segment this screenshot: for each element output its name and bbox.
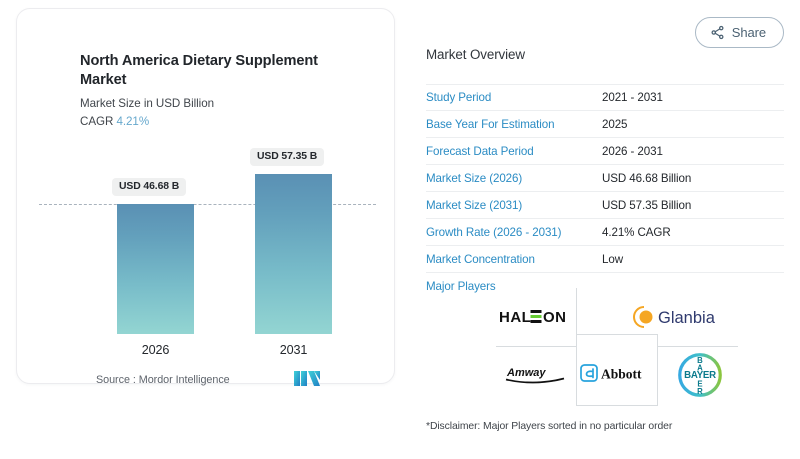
mordor-intelligence-logo bbox=[294, 371, 320, 386]
cagr-label: CAGR bbox=[80, 115, 113, 128]
logo-abbott[interactable]: Abbott bbox=[578, 350, 656, 396]
svg-text:ON: ON bbox=[543, 309, 567, 326]
spec-label: Forecast Data Period bbox=[426, 145, 602, 158]
spec-label: Growth Rate (2026 - 2031) bbox=[426, 226, 602, 239]
bayer-logo-icon: BAYER B A E R bbox=[677, 352, 723, 398]
spec-value: 2021 - 2031 bbox=[602, 91, 663, 104]
spec-label: Market Concentration bbox=[426, 253, 602, 266]
spec-value: USD 46.68 Billion bbox=[602, 172, 691, 185]
table-row: Forecast Data Period 2026 - 2031 bbox=[426, 138, 784, 165]
spec-value: USD 57.35 Billion bbox=[602, 199, 691, 212]
table-row: Study Period 2021 - 2031 bbox=[426, 84, 784, 111]
table-row: Market Size (2026) USD 46.68 Billion bbox=[426, 165, 784, 192]
bar-2026[interactable] bbox=[117, 204, 194, 334]
svg-text:A: A bbox=[697, 363, 703, 372]
share-nodes-icon bbox=[710, 25, 725, 40]
market-overview-title: Market Overview bbox=[426, 47, 525, 62]
chart-subtitle: Market Size in USD Billion bbox=[80, 97, 214, 110]
spec-label: Market Size (2031) bbox=[426, 199, 602, 212]
abbott-logo-icon: Abbott bbox=[580, 361, 654, 385]
spec-value: 4.21% CAGR bbox=[602, 226, 671, 239]
major-players-logo-grid: HAL ON Glanbia Amway bbox=[496, 288, 738, 406]
svg-text:HAL: HAL bbox=[499, 309, 531, 326]
spec-label: Base Year For Estimation bbox=[426, 118, 602, 131]
table-row: Base Year For Estimation 2025 bbox=[426, 111, 784, 138]
svg-text:R: R bbox=[697, 387, 703, 396]
svg-text:Abbott: Abbott bbox=[601, 367, 642, 382]
chart-card: North America Dietary Supplement Market … bbox=[16, 8, 395, 384]
logo-amway[interactable]: Amway bbox=[500, 352, 572, 398]
svg-text:Glanbia: Glanbia bbox=[658, 309, 716, 327]
table-row: Market Size (2031) USD 57.35 Billion bbox=[426, 192, 784, 219]
x-axis-tick-2026: 2026 bbox=[117, 343, 194, 357]
logo-haleon[interactable]: HAL ON bbox=[498, 294, 574, 340]
svg-text:Amway: Amway bbox=[506, 367, 546, 379]
bar-label-2031: USD 57.35 B bbox=[250, 148, 324, 166]
glanbia-logo-icon: Glanbia bbox=[631, 304, 729, 330]
cagr-value: 4.21% bbox=[116, 115, 149, 128]
table-row: Market Concentration Low bbox=[426, 246, 784, 273]
amway-logo-icon: Amway bbox=[505, 363, 567, 387]
spec-value: Low bbox=[602, 253, 623, 266]
bar-2031[interactable] bbox=[255, 174, 332, 334]
bar-chart-plot-area: USD 46.68 B USD 57.35 B 2026 2031 bbox=[31, 139, 382, 349]
table-row: Growth Rate (2026 - 2031) 4.21% CAGR bbox=[426, 219, 784, 246]
logo-glanbia[interactable]: Glanbia bbox=[626, 294, 734, 340]
share-label: Share bbox=[732, 25, 766, 40]
share-button[interactable]: Share bbox=[695, 17, 784, 48]
bar-label-2026: USD 46.68 B bbox=[112, 178, 186, 196]
spec-value: 2026 - 2031 bbox=[602, 145, 663, 158]
chart-title: North America Dietary Supplement Market bbox=[80, 52, 350, 91]
spec-value: 2025 bbox=[602, 118, 627, 131]
report-snapshot: North America Dietary Supplement Market … bbox=[0, 0, 800, 459]
market-overview-table: Study Period 2021 - 2031 Base Year For E… bbox=[426, 84, 784, 300]
source-text: Source : Mordor Intelligence bbox=[96, 374, 230, 386]
disclaimer-text: *Disclaimer: Major Players sorted in no … bbox=[426, 421, 672, 432]
cagr-row: CAGR 4.21% bbox=[80, 115, 149, 128]
logo-bayer[interactable]: BAYER B A E R bbox=[664, 346, 736, 404]
spec-label: Market Size (2026) bbox=[426, 172, 602, 185]
spec-label: Study Period bbox=[426, 91, 602, 104]
x-axis-tick-2031: 2031 bbox=[255, 343, 332, 357]
haleon-logo-icon: HAL ON bbox=[499, 306, 573, 328]
